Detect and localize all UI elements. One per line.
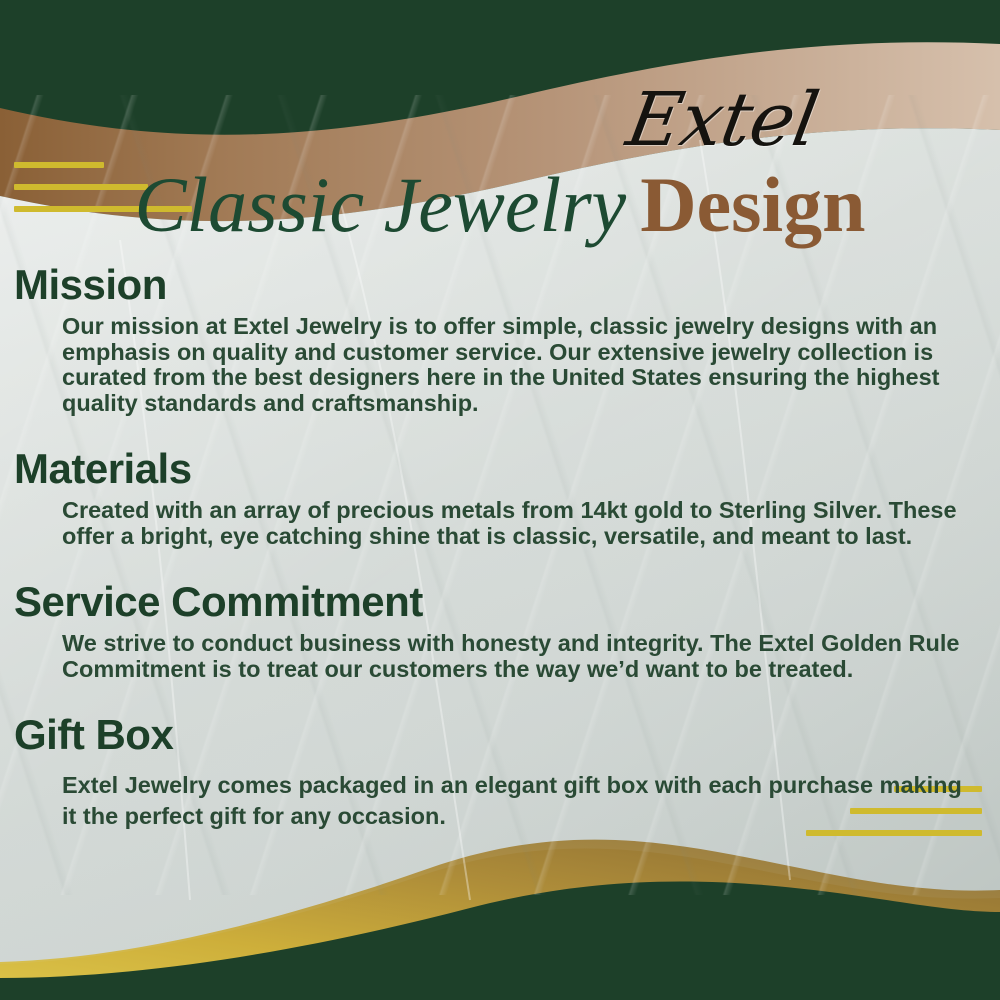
page-title-primary: Classic Jewelry bbox=[134, 161, 626, 248]
section-heading: Gift Box bbox=[14, 708, 1000, 762]
section-heading: Service Commitment bbox=[14, 575, 1000, 629]
section-heading: Materials bbox=[14, 442, 1000, 496]
section-body: We strive to conduct business with hones… bbox=[62, 631, 976, 682]
section-body: Created with an array of precious metals… bbox=[62, 498, 976, 549]
section-gift-box: Gift Box Extel Jewelry comes packaged in… bbox=[0, 708, 1000, 832]
section-service-commitment: Service Commitment We strive to conduct … bbox=[0, 575, 1000, 682]
poster-canvas: Extel Classic JewelryDesign Mission Our … bbox=[0, 0, 1000, 1000]
page-title: Classic JewelryDesign bbox=[0, 152, 1000, 258]
section-mission: Mission Our mission at Extel Jewelry is … bbox=[0, 258, 1000, 416]
section-heading: Mission bbox=[14, 258, 1000, 312]
sections-list: Mission Our mission at Extel Jewelry is … bbox=[0, 258, 1000, 832]
page-title-secondary: Design bbox=[640, 161, 865, 248]
section-body: Our mission at Extel Jewelry is to offer… bbox=[62, 314, 976, 416]
section-body: Extel Jewelry comes packaged in an elega… bbox=[62, 770, 976, 832]
section-materials: Materials Created with an array of preci… bbox=[0, 442, 1000, 549]
